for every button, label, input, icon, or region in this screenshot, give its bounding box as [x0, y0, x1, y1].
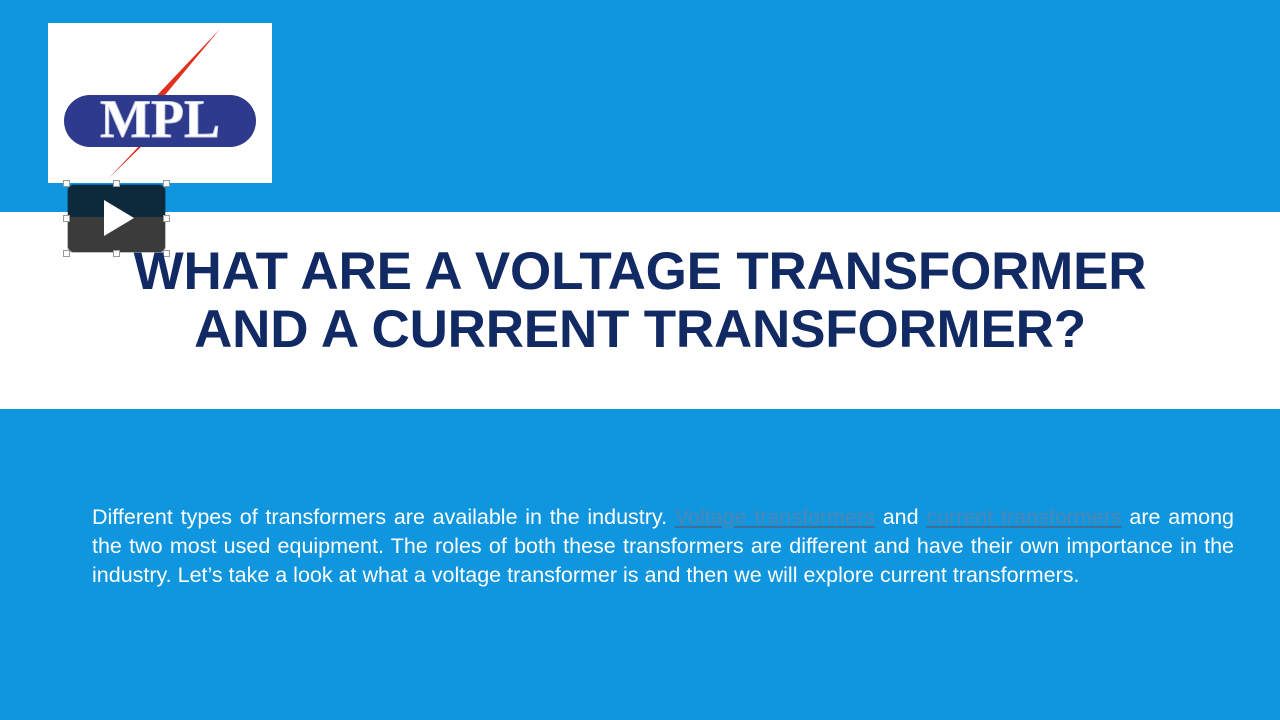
mpl-logo-icon: MPL [48, 23, 272, 183]
company-logo: MPL [48, 23, 272, 183]
slide-canvas: MPL WHAT ARE A VOLTAGE TRANSFORMER AND A… [0, 0, 1280, 720]
selection-handle-middle-left[interactable] [63, 215, 70, 222]
slide-title-line-1: WHAT ARE A VOLTAGE TRANSFORMER [64, 243, 1216, 301]
selection-handle-top-center[interactable] [113, 180, 120, 187]
logo-wordmark: MPL [100, 89, 220, 149]
logo-artwork: MPL [48, 23, 272, 183]
selection-handle-top-left[interactable] [63, 180, 70, 187]
body-segment-1: Different types of transformers are avai… [92, 505, 675, 529]
play-icon[interactable] [104, 200, 134, 236]
slide-title: WHAT ARE A VOLTAGE TRANSFORMER AND A CUR… [64, 243, 1216, 359]
slide-body-text: Different types of transformers are avai… [92, 503, 1234, 590]
slide-title-line-2: AND A CURRENT TRANSFORMER? [64, 301, 1216, 359]
selection-handle-top-right[interactable] [163, 180, 170, 187]
selection-handle-middle-right[interactable] [163, 215, 170, 222]
link-voltage-transformers[interactable]: Voltage transformers [675, 505, 875, 529]
body-segment-2: and [875, 505, 926, 529]
link-current-transformers[interactable]: current transformers [926, 505, 1121, 529]
